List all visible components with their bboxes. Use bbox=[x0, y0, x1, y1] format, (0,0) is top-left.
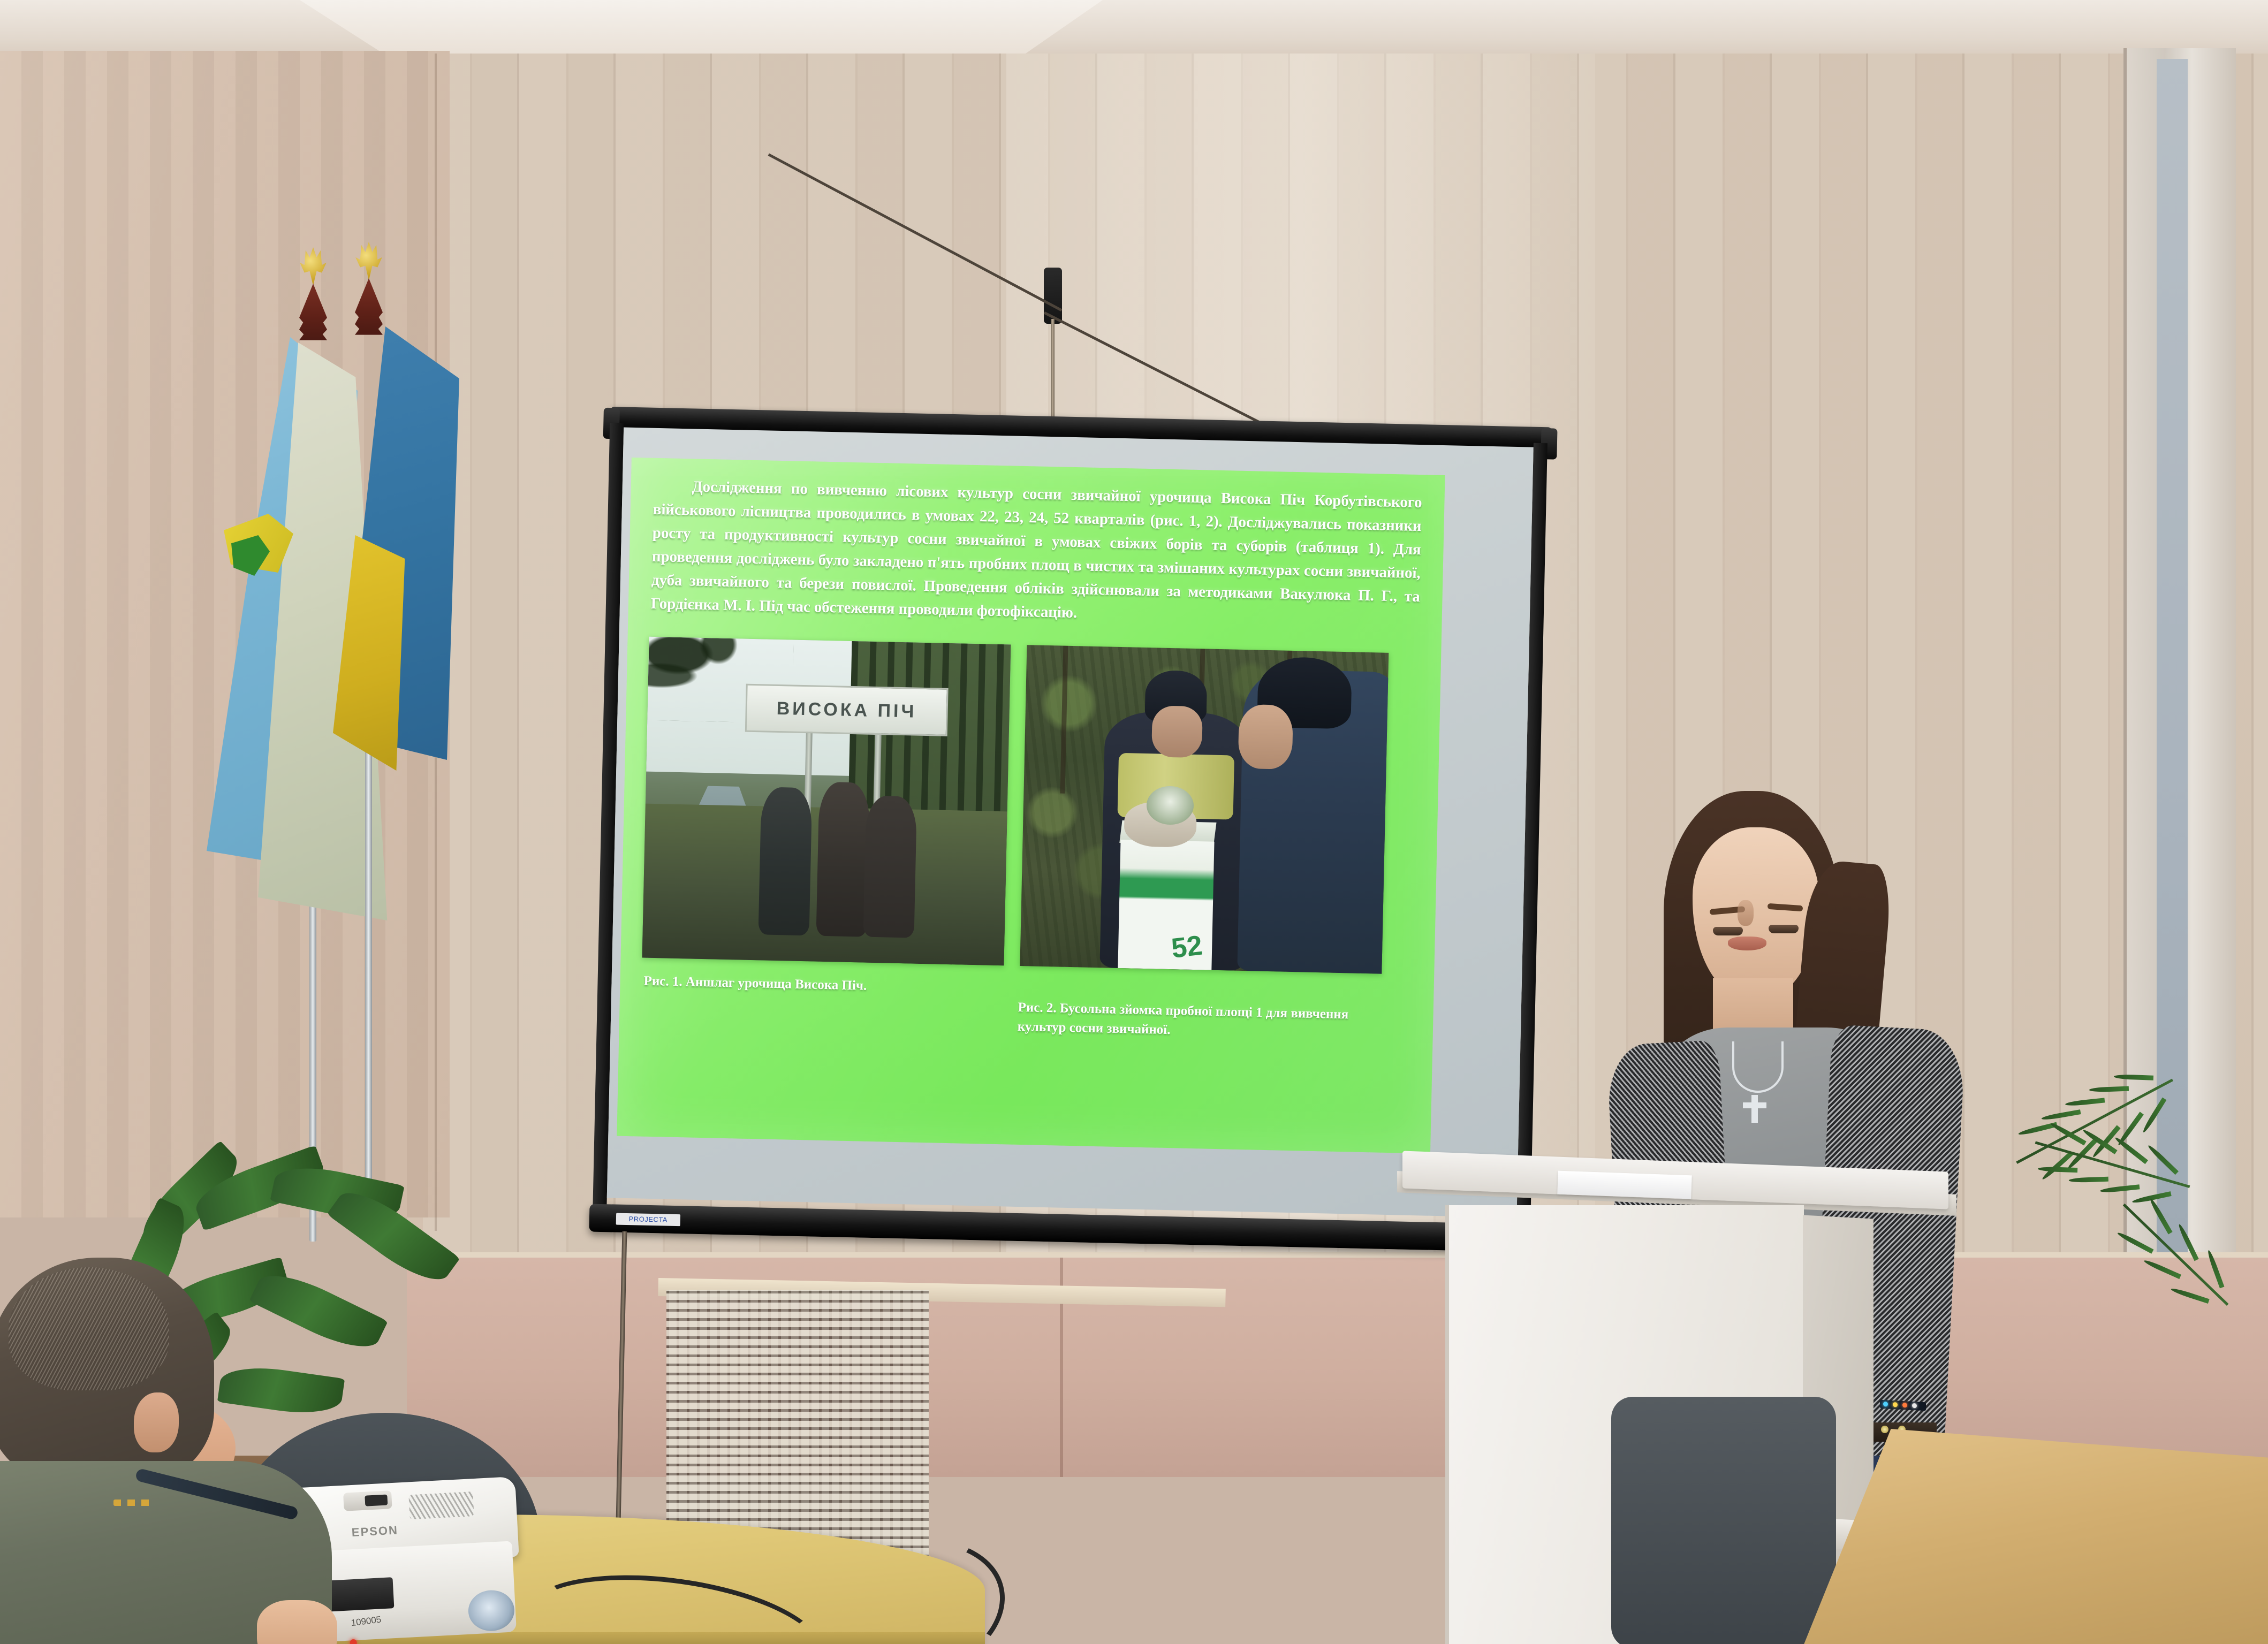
presentation-slide: Дослідження по вивченню лісових культур … bbox=[617, 458, 1445, 1154]
screen-brand-label: PROJECTA bbox=[616, 1213, 680, 1227]
eye-right bbox=[1769, 925, 1799, 933]
photo1-road-sign: ВИСОКА ПІЧ bbox=[745, 684, 948, 736]
presenter-nose bbox=[1738, 900, 1754, 926]
photo1-person bbox=[758, 787, 813, 936]
audience-member-ear bbox=[134, 1392, 179, 1452]
road-sign-text: ВИСОКА ПІЧ bbox=[776, 698, 916, 722]
flag-pole bbox=[365, 685, 372, 1220]
screen-canvas: Дослідження по вивченню лісових культур … bbox=[607, 428, 1534, 1218]
status-led-amber bbox=[1893, 1402, 1898, 1407]
vent-icon bbox=[408, 1491, 474, 1519]
figure-2-caption: Рис. 2. Бусольна зйомка пробної площі 1 … bbox=[1018, 980, 1393, 1044]
slide-photo-road-sign: ВИСОКА ПІЧ bbox=[642, 637, 1011, 966]
slide-photo-row: ВИСОКА ПІЧ bbox=[639, 637, 1423, 975]
slide-caption-row: Рис. 1. Аншлаг урочища Висока Піч. Рис. … bbox=[638, 972, 1416, 1045]
lectern-indicator-strip bbox=[1880, 1400, 1926, 1411]
photo2-face-right bbox=[1238, 704, 1293, 770]
cross-pendant-icon bbox=[1751, 1095, 1758, 1123]
figure-1-caption: Рис. 1. Аншлаг урочища Висока Піч. bbox=[643, 972, 1019, 1036]
photo1-person bbox=[816, 782, 870, 937]
presenter-face bbox=[1693, 827, 1819, 999]
status-led-blue bbox=[1883, 1402, 1888, 1406]
photo2-face-left bbox=[1151, 706, 1203, 758]
potted-palm-right bbox=[2013, 1049, 2268, 1456]
eye-left bbox=[1713, 927, 1743, 935]
necklace bbox=[1732, 1041, 1784, 1093]
eyebrow-right bbox=[1768, 903, 1803, 912]
status-led-white bbox=[1912, 1403, 1917, 1408]
audience-member-hand bbox=[257, 1600, 337, 1644]
rank-insignia bbox=[113, 1500, 155, 1506]
photo1-person bbox=[863, 796, 917, 938]
slide-body-text: Дослідження по вивченню лісових культур … bbox=[647, 472, 1427, 633]
office-chair-right[interactable] bbox=[1611, 1397, 1836, 1644]
slide-photo-compass-survey: 52 bbox=[1020, 645, 1389, 975]
audience-member-hair bbox=[9, 1267, 169, 1390]
conference-room-photo: Дослідження по вивченню лісових культур … bbox=[0, 0, 2268, 1644]
presenter-mouth bbox=[1728, 937, 1766, 950]
seated-audience-member bbox=[0, 1258, 375, 1644]
status-led-orange bbox=[1902, 1403, 1907, 1407]
radiator-grille bbox=[666, 1290, 929, 1557]
speech-notes[interactable] bbox=[1557, 1171, 1691, 1199]
